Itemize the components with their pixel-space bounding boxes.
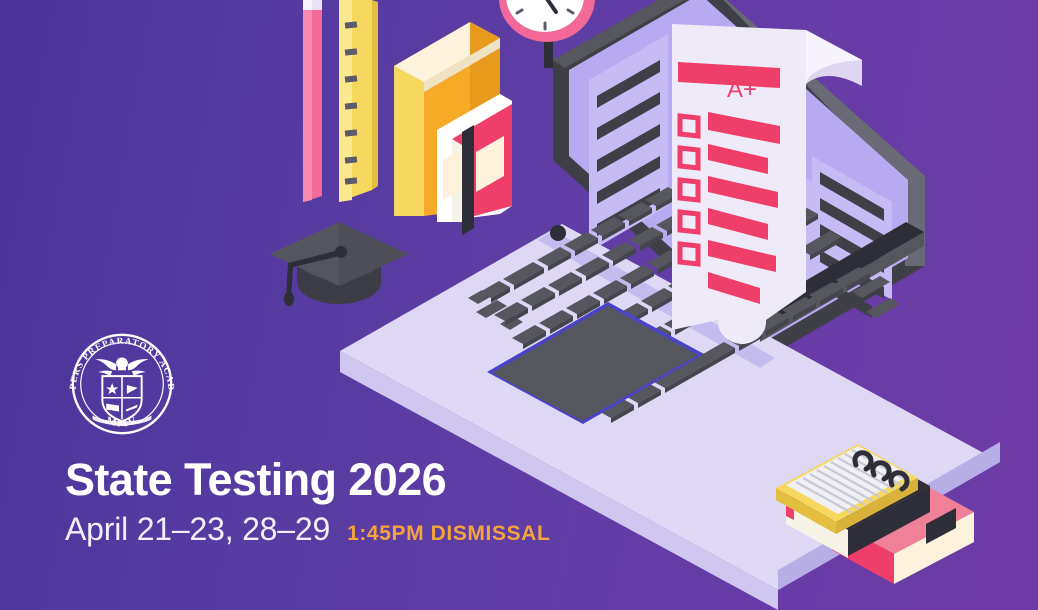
graduation-cap-icon (270, 222, 408, 306)
headline-subline: April 21–23, 28–29 1:45PM DISMISSAL (65, 513, 683, 545)
gompers-preparatory-academy-crest-icon: GOMPERS PREPARATORY ACADEMY MMV (63, 325, 181, 443)
pencil-icon (303, 0, 322, 202)
event-dates: April 21–23, 28–29 (65, 513, 330, 545)
page-title: State Testing 2026 (65, 457, 683, 502)
dismissal-badge: 1:45PM DISMISSAL (347, 523, 550, 544)
crest-eagle-icon (95, 357, 148, 376)
poster-canvas: A+ (0, 0, 1038, 610)
ruler-icon (339, 0, 378, 202)
crest-shield-icon (102, 376, 141, 421)
grade-label: A+ (727, 76, 757, 103)
headline-block: GOMPERS PREPARATORY ACADEMY MMV (63, 325, 683, 545)
